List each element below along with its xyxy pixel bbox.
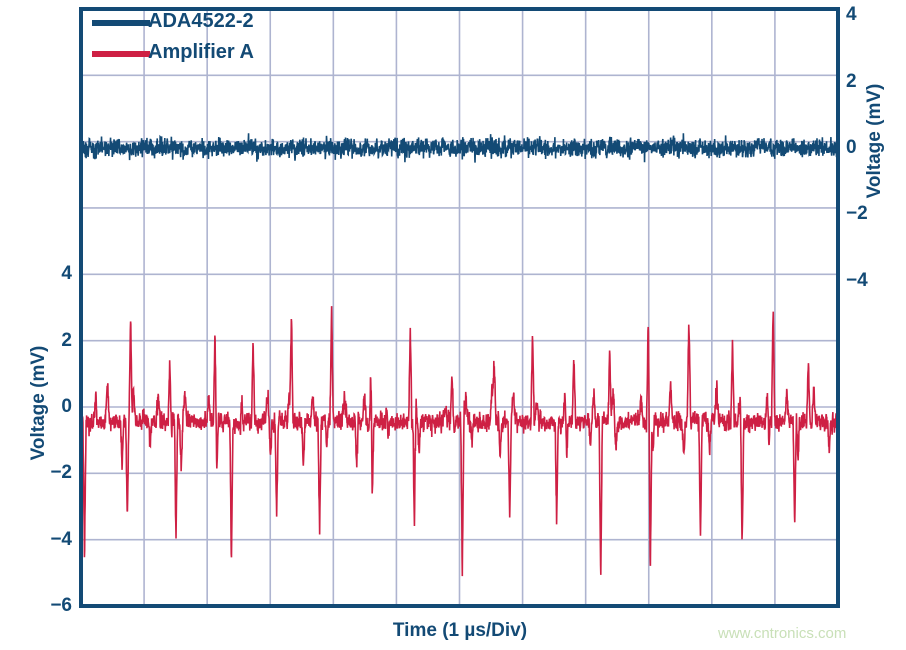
y-axis-left-tick: 4 xyxy=(32,264,72,283)
y-axis-right-label: Voltage (mV) xyxy=(864,56,886,226)
y-axis-right-tick: 4 xyxy=(846,5,886,24)
y-axis-left-tick: −4 xyxy=(32,530,72,549)
y-axis-left-label: Voltage (mV) xyxy=(28,318,50,488)
x-axis-label: Time (1 µs/Div) xyxy=(330,620,590,642)
watermark-text: www.cntronics.com xyxy=(718,625,846,642)
legend-label: ADA4522-2 xyxy=(148,10,254,33)
chart-legend: ADA4522-2Amplifier A xyxy=(88,10,348,72)
legend-swatch-icon xyxy=(92,20,150,26)
legend-label: Amplifier A xyxy=(148,41,254,64)
plot-canvas xyxy=(0,0,906,650)
y-axis-left-tick: −6 xyxy=(32,596,72,615)
chart-figure: 420−2−4−6 420−2−4 Voltage (mV) Voltage (… xyxy=(0,0,906,650)
y-axis-right-tick: −4 xyxy=(846,271,886,290)
legend-swatch-icon xyxy=(92,51,150,57)
